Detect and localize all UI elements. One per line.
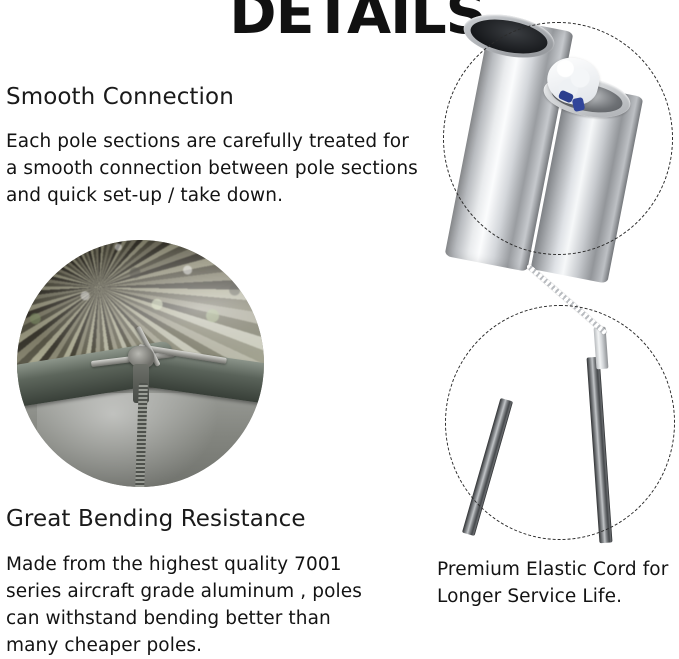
details-page: DETAILS Smooth Connection Each pole sect… xyxy=(0,0,679,645)
bending-resistance-body-line-4: many cheaper poles. xyxy=(6,632,436,659)
elastic-cord-caption-line-1: Premium Elastic Cord for xyxy=(437,556,677,583)
bending-resistance-heading: Great Bending Resistance xyxy=(6,506,306,532)
bending-resistance-body-line-3: can withstand bending better than xyxy=(6,605,436,632)
smooth-connection-body: Each pole sections are carefully treated… xyxy=(6,128,436,209)
tube-photo-dashed-frame xyxy=(443,22,673,255)
smooth-connection-body-line-2: a smooth connection between pole section… xyxy=(6,155,436,182)
bending-resistance-body-line-1: Made from the highest quality 7001 xyxy=(6,551,436,578)
bending-resistance-body-line-2: series aircraft grade aluminum , poles xyxy=(6,578,436,605)
cord-photo-dashed-frame xyxy=(445,305,675,540)
tent-corner-photo xyxy=(17,240,264,487)
elastic-cord-caption: Premium Elastic Cord for Longer Service … xyxy=(437,556,677,610)
smooth-connection-heading: Smooth Connection xyxy=(6,84,234,110)
smooth-connection-body-line-1: Each pole sections are carefully treated… xyxy=(6,128,436,155)
bending-resistance-body: Made from the highest quality 7001 serie… xyxy=(6,551,436,659)
elastic-cord-caption-line-2: Longer Service Life. xyxy=(437,583,677,610)
smooth-connection-body-line-3: and quick set-up / take down. xyxy=(6,182,436,209)
